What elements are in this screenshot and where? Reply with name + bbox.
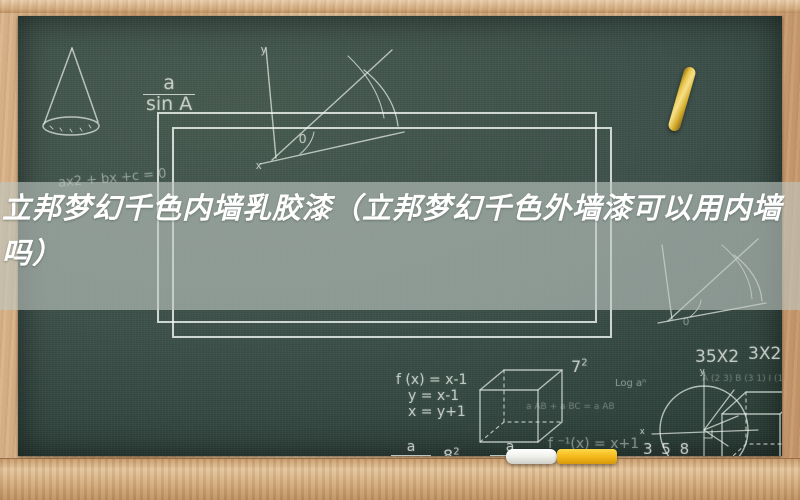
formula-eight-squared: 82: [443, 446, 460, 456]
cube-diagram-right: [708, 384, 782, 456]
formula-mult-3x2: 3X2: [748, 344, 781, 364]
fraction-numerator: a: [391, 440, 431, 456]
angle-label-right: 0: [683, 316, 689, 328]
seven-exponent: 2: [581, 358, 587, 369]
chalk-tray-ledge: [0, 458, 800, 500]
cone-diagram: [36, 42, 126, 152]
formula-f-of-x: f (x) = x-1: [396, 372, 467, 388]
axis-label-y-bottom: y: [700, 366, 705, 376]
axis-label-y-top: y: [261, 44, 267, 56]
chalk-piece-white: [506, 449, 557, 464]
formula-y-equals: y = x-1: [408, 388, 459, 404]
sum-line-1: 3 5 8: [643, 440, 691, 456]
frame-top-highlight: [0, 0, 800, 13]
eight-base: 8: [443, 446, 453, 456]
axis-label-x-bottom: x: [640, 426, 645, 436]
chalkboard-banner: a sin A ax2 + bx +c = 0 y x 0 0: [0, 0, 800, 500]
page-title: 立邦梦幻千色内墙乳胶漆（立邦梦幻千色外墙漆可以用内墙吗）: [0, 182, 800, 310]
formula-a-over-sin-a-left: a sin A: [391, 440, 431, 456]
eight-exponent: 2: [453, 447, 459, 456]
formula-vector-sum: a AB + a BC = a AB: [526, 402, 615, 412]
formula-mult-35x2: 35X2: [695, 347, 739, 367]
formula-seven-squared: 72: [571, 357, 588, 376]
chalk-piece-yellow: [557, 449, 617, 464]
formula-log-an: Log aⁿ: [615, 378, 646, 389]
seven-base: 7: [571, 357, 581, 376]
formula-x-equals: x = y+1: [408, 404, 466, 420]
